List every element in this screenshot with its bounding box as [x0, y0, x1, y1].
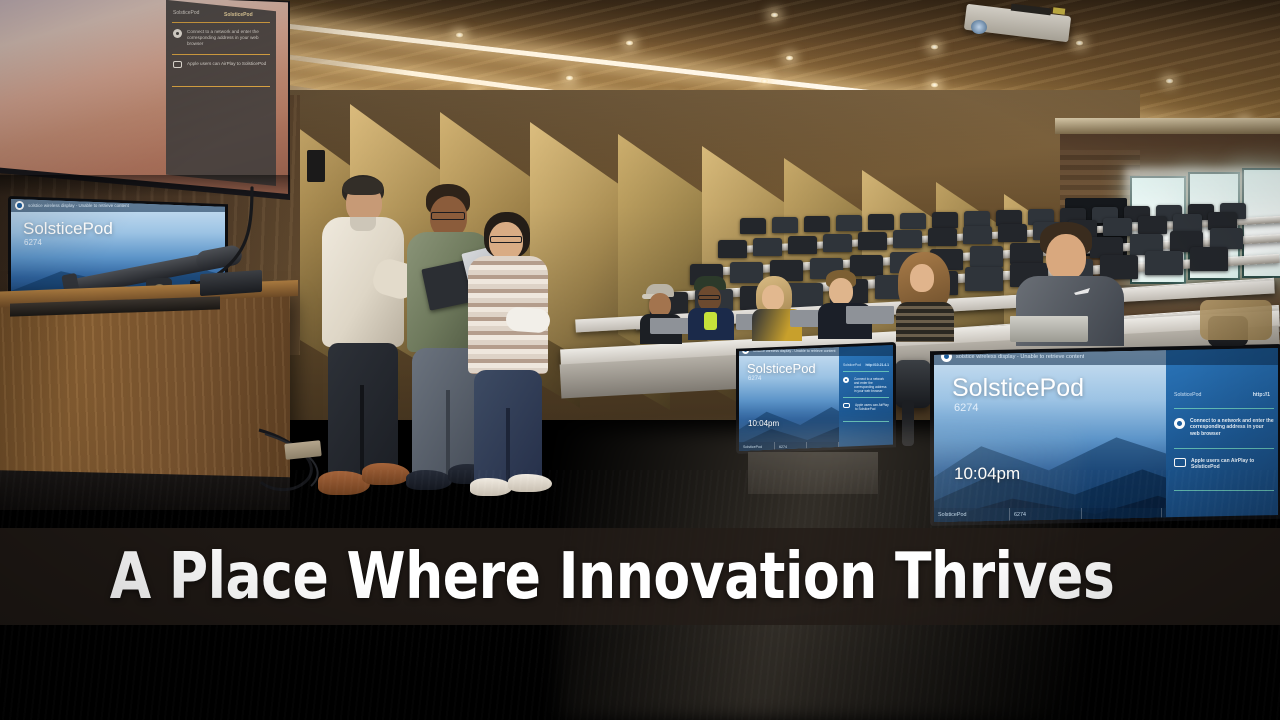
main-instruction-2: Apple users can AirPlay to SolsticePod	[1174, 458, 1274, 471]
laptop-student-grey[interactable]	[1010, 316, 1088, 342]
main-display-code: 6274	[954, 402, 978, 414]
instructor-collar	[350, 217, 376, 231]
person-student-blonde	[752, 276, 804, 338]
main-instruction-1: Connect to a network and enter the corre…	[1174, 418, 1274, 437]
secondary-display-status: solstice wireless display - Unable to re…	[753, 349, 836, 353]
solstice-logo-icon	[941, 351, 952, 362]
person-student-hoodie	[818, 270, 874, 336]
caption-title: A Place Where Innovation Thrives	[0, 528, 1190, 625]
main-panel-head: SolsticePod http://1	[1166, 392, 1278, 398]
instructor-hair-top	[343, 177, 383, 195]
student-grey-head	[1046, 234, 1086, 280]
projector-panel-url: SolsticePod	[224, 12, 253, 18]
podium-display-code: 6274	[24, 238, 42, 247]
network-icon	[173, 29, 182, 38]
podium-control-panel[interactable]	[200, 270, 262, 296]
secondary-instruction-1: Connect to a network and enter the corre…	[843, 377, 889, 393]
student-hoodie-head	[829, 278, 853, 305]
podium-display-name: SolsticePod	[23, 219, 113, 239]
main-display-name: SolsticePod	[952, 374, 1084, 403]
projector-panel-title: SolsticePod	[173, 10, 199, 16]
person-instructor	[318, 175, 414, 505]
secondary-display-code: 6274	[748, 376, 761, 382]
secondary-panel-url: http://10.21.4.1	[865, 363, 889, 367]
main-display-status: solstice wireless display - Unable to re…	[956, 354, 1084, 360]
laptop-student-hoodie[interactable]	[846, 306, 894, 324]
student-curly-head	[910, 264, 934, 292]
student-beanie-glasses	[698, 295, 720, 300]
podium-display-status: solstice wireless display - Unable to re…	[28, 203, 129, 208]
student-striped-arm-cast	[505, 306, 551, 333]
airplay-icon	[173, 61, 182, 68]
laptop-student-cap[interactable]	[650, 318, 692, 334]
projector-screen-instructions: SolsticePod SolsticePod Connect to a net…	[166, 0, 276, 186]
student-striped-glasses	[490, 236, 522, 243]
back-wall-ledge	[1055, 118, 1280, 134]
network-icon	[843, 377, 849, 383]
main-panel-title: SolsticePod	[1174, 392, 1201, 398]
desk-bag	[1200, 300, 1272, 340]
lecture-hall-photo: SolsticePod SolsticePod Connect to a net…	[0, 0, 1280, 720]
person-student-curly	[896, 252, 958, 336]
student-olive-glasses	[431, 212, 465, 220]
network-icon	[1174, 418, 1185, 429]
person-student-beanie	[688, 276, 736, 338]
secondary-display-clock: 10:04pm	[748, 419, 779, 428]
student-curly-torso	[896, 302, 954, 342]
airplay-icon	[843, 403, 850, 408]
solstice-logo-icon	[15, 201, 24, 210]
secondary-display-name: SolsticePod	[747, 361, 816, 376]
student-blonde-head	[762, 285, 784, 310]
secondary-instruction-2: Apple users can AirPlay to SolsticePod	[843, 403, 889, 411]
projection-screen: SolsticePod SolsticePod Connect to a net…	[0, 0, 290, 200]
projector-instruction-1: Connect to a network and enter the corre…	[173, 29, 269, 47]
projector-instruction-2: Apple users can AirPlay to SolsticePod	[173, 61, 269, 68]
student-beanie-hi-vis	[704, 312, 717, 330]
secondary-panel-title: SolsticePod	[843, 363, 861, 367]
person-student-striped	[468, 212, 552, 504]
main-panel-url: http://1	[1253, 392, 1270, 398]
secondary-panel-head: SolsticePod http://10.21.4.1	[839, 363, 893, 367]
airplay-icon	[1174, 458, 1186, 467]
ceiling-projector	[965, 2, 1070, 42]
student-olive-leg-split	[446, 390, 450, 478]
